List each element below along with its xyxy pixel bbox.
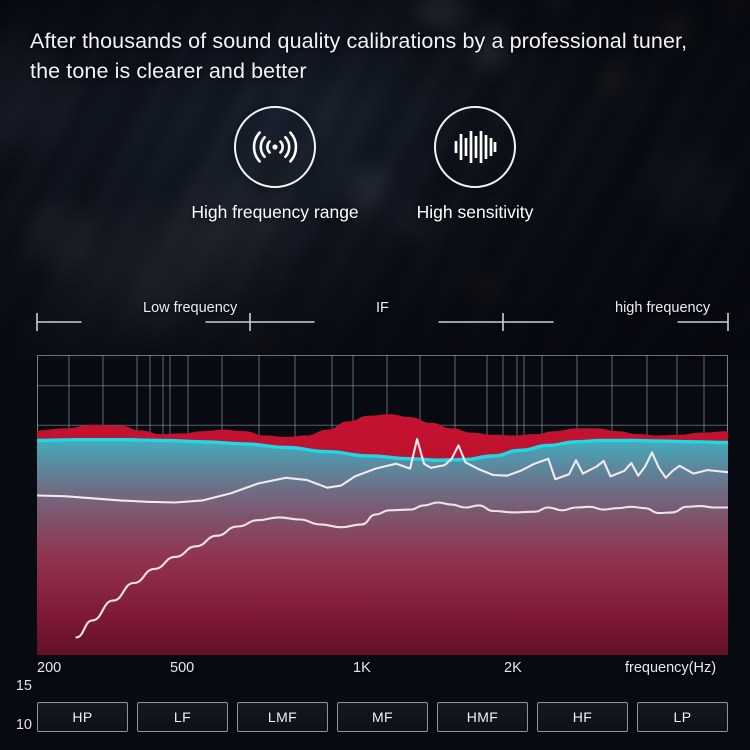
x-tick-1: 500 — [170, 660, 194, 676]
y-tick-0: 15 — [0, 678, 32, 694]
x-tick-0: 200 — [37, 660, 61, 676]
equalizer-bars-icon — [434, 106, 516, 188]
eq-band-buttons[interactable]: HP LF LMF MF HMF HF LP — [37, 702, 728, 732]
band-button-mf[interactable]: MF — [337, 702, 428, 732]
frequency-region-bar: Low frequency IF high frequency — [0, 300, 750, 355]
band-button-hf[interactable]: HF — [537, 702, 628, 732]
sound-waves-icon — [234, 106, 316, 188]
feature-label: High frequency range — [185, 202, 365, 223]
band-button-hmf[interactable]: HMF — [437, 702, 528, 732]
plot-area — [37, 355, 728, 655]
band-button-lmf[interactable]: LMF — [237, 702, 328, 732]
x-tick-3: 2K — [504, 660, 522, 676]
band-button-hp[interactable]: HP — [37, 702, 128, 732]
headline-text: After thousands of sound quality calibra… — [30, 26, 720, 86]
frequency-response-chart: Low frequency IF high frequency 151050-5… — [0, 300, 750, 700]
feature-label: High sensitivity — [390, 202, 560, 223]
y-tick-1: 10 — [0, 717, 32, 733]
band-button-lp[interactable]: LP — [637, 702, 728, 732]
band-button-lf[interactable]: LF — [137, 702, 228, 732]
x-tick-2: 1K — [353, 660, 371, 676]
product-infographic: After thousands of sound quality calibra… — [0, 0, 750, 750]
x-axis-title: frequency(Hz) — [625, 660, 716, 676]
feature-high-frequency-range: High frequency range — [185, 106, 365, 223]
feature-high-sensitivity: High sensitivity — [390, 106, 560, 223]
